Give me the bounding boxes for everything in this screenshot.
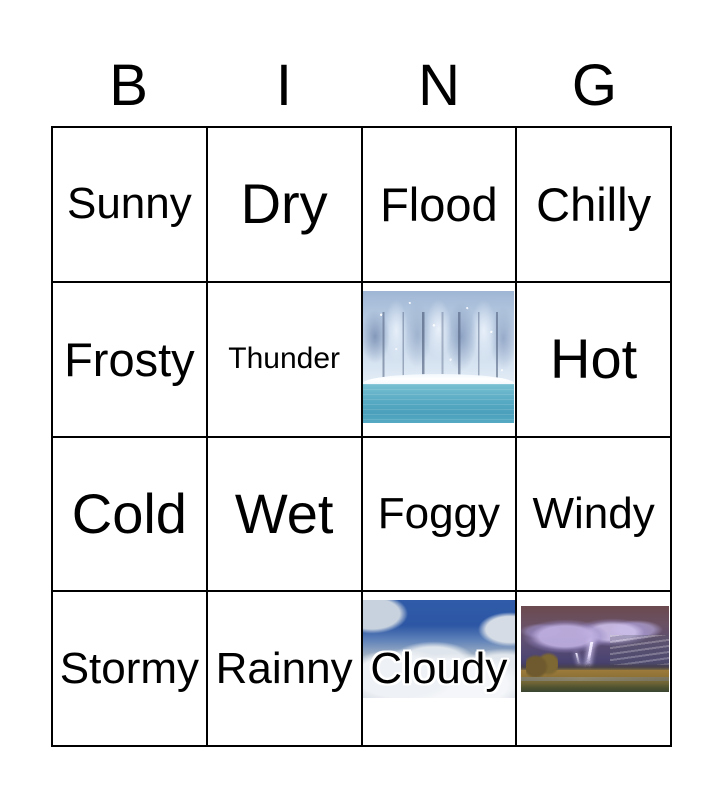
bingo-cell-label: Rainny	[216, 647, 353, 691]
bingo-cell-r2c2[interactable]: Thunder	[208, 283, 363, 438]
bingo-cell-r1c4[interactable]: Chilly	[517, 128, 672, 283]
header-letter-i: I	[206, 46, 361, 126]
lightning-storm-over-field-photo	[521, 606, 669, 692]
bingo-cell-r2c1[interactable]: Frosty	[53, 283, 208, 438]
bingo-cell-r2c3[interactable]	[363, 283, 518, 438]
snow-falling-flakes	[363, 291, 514, 423]
header-letter-g: G	[517, 46, 672, 126]
bingo-cell-label: Flood	[380, 181, 498, 228]
bingo-card: B I N G Sunny Dry Flood Chilly Frosty Th…	[0, 0, 723, 800]
bingo-cell-r3c2[interactable]: Wet	[208, 438, 363, 593]
header-letter-b: B	[51, 46, 206, 126]
bingo-cell-r3c3[interactable]: Foggy	[363, 438, 518, 593]
bingo-cell-r4c3[interactable]: Cloudy	[363, 592, 518, 747]
bingo-header-row: B I N G	[51, 46, 672, 126]
bingo-cell-r1c3[interactable]: Flood	[363, 128, 518, 283]
bingo-cell-r2c4[interactable]: Hot	[517, 283, 672, 438]
bingo-cell-label: Chilly	[536, 181, 651, 228]
bingo-cell-r4c4[interactable]	[517, 592, 672, 747]
bingo-cell-label: Thunder	[228, 344, 340, 374]
bingo-cell-label: Hot	[550, 331, 637, 387]
bingo-cell-label: Sunny	[67, 182, 192, 226]
bingo-cell-r3c1[interactable]: Cold	[53, 438, 208, 593]
bingo-cell-label: Frosty	[64, 336, 195, 383]
bingo-cell-r4c1[interactable]: Stormy	[53, 592, 208, 747]
bingo-cell-label: Foggy	[378, 492, 500, 536]
bingo-cell-label: Cold	[72, 486, 187, 542]
bingo-cell-r3c4[interactable]: Windy	[517, 438, 672, 593]
bingo-grid: Sunny Dry Flood Chilly Frosty Thunder	[51, 126, 672, 747]
header-letter-n: N	[362, 46, 517, 126]
bingo-cell-label: Dry	[241, 176, 328, 232]
bingo-cell-label: Wet	[235, 486, 334, 542]
bingo-cell-r4c2[interactable]: Rainny	[208, 592, 363, 747]
bingo-cell-label: Cloudy	[370, 647, 507, 691]
storm-foreground-bush	[526, 651, 559, 677]
storm-rain-bands	[610, 635, 669, 664]
bingo-cell-r1c2[interactable]: Dry	[208, 128, 363, 283]
bingo-cell-label: Windy	[533, 492, 655, 536]
snowy-winter-forest-lake-photo	[363, 291, 514, 423]
bingo-cell-label: Stormy	[60, 647, 199, 691]
bingo-cell-r1c1[interactable]: Sunny	[53, 128, 208, 283]
